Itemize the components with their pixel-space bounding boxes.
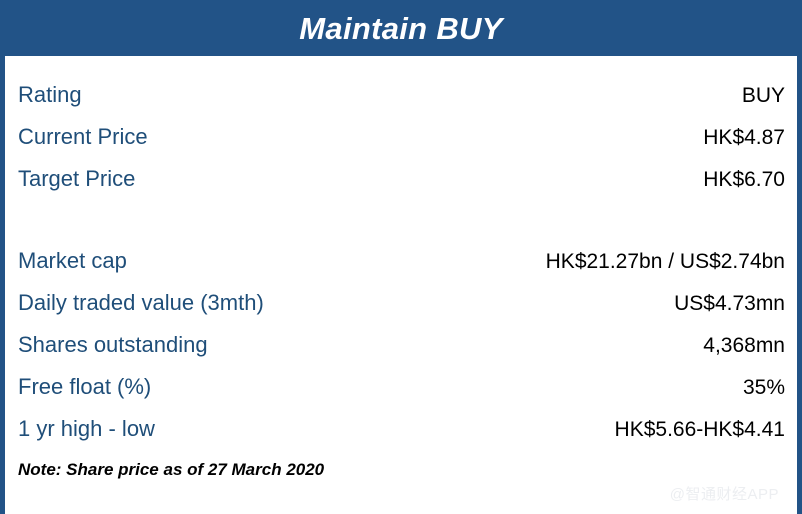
row-value: BUY [742, 84, 785, 108]
row-label: Target Price [18, 166, 135, 192]
table-row: Free float (%) 35% [18, 374, 785, 416]
table-row: 1 yr high - low HK$5.66-HK$4.41 [18, 416, 785, 458]
row-label: Current Price [18, 124, 148, 150]
table-row: Rating BUY [18, 82, 785, 124]
footnote: Note: Share price as of 27 March 2020 [18, 460, 785, 480]
stock-summary-card: Maintain BUY Rating BUY Current Price HK… [0, 0, 802, 514]
table-row: Current Price HK$4.87 [18, 124, 785, 166]
table-row: Market cap HK$21.27bn / US$2.74bn [18, 248, 785, 290]
row-value: US$4.73mn [674, 292, 785, 316]
card-body: Rating BUY Current Price HK$4.87 Target … [5, 56, 797, 514]
row-value: HK$5.66-HK$4.41 [615, 418, 785, 442]
watermark: @智通财经APP [670, 483, 779, 504]
row-label: Market cap [18, 248, 127, 274]
right-border [797, 56, 802, 514]
card-title: Maintain BUY [299, 13, 502, 44]
row-label: Rating [18, 82, 82, 108]
summary-rows: Rating BUY Current Price HK$4.87 Target … [18, 82, 785, 480]
card-header: Maintain BUY [0, 0, 802, 56]
table-row: Daily traded value (3mth) US$4.73mn [18, 290, 785, 332]
row-value: 35% [743, 376, 785, 400]
row-value: HK$21.27bn / US$2.74bn [546, 250, 785, 274]
row-value: HK$4.87 [703, 126, 785, 150]
table-row: Shares outstanding 4,368mn [18, 332, 785, 374]
row-label: 1 yr high - low [18, 416, 155, 442]
row-label: Shares outstanding [18, 332, 208, 358]
row-value: 4,368mn [703, 334, 785, 358]
row-label: Free float (%) [18, 374, 151, 400]
table-row: Target Price HK$6.70 [18, 166, 785, 208]
group-spacer [18, 208, 785, 248]
row-value: HK$6.70 [703, 168, 785, 192]
row-label: Daily traded value (3mth) [18, 290, 264, 316]
